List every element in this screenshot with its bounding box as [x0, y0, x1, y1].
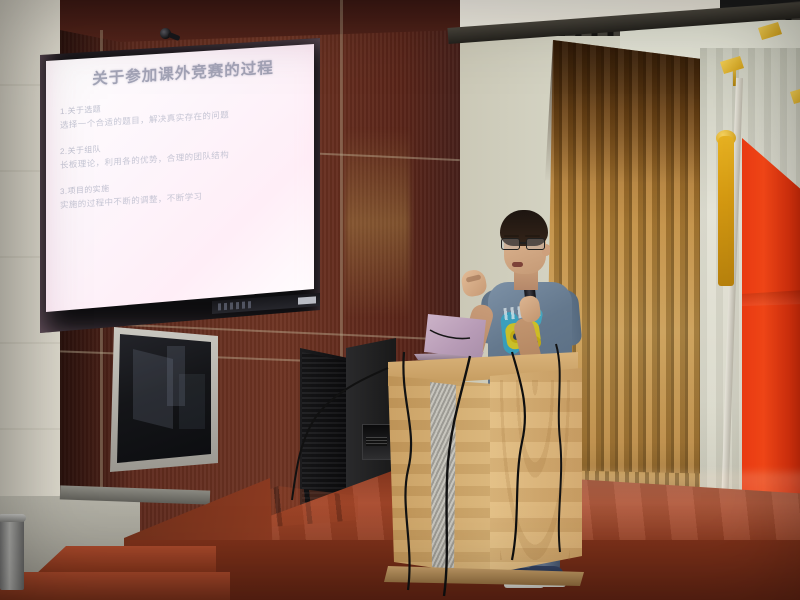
eyeglass-lens-left — [501, 238, 520, 250]
slide-title: 关于参加课外竞赛的过程 — [60, 54, 306, 91]
eyeglasses-icon — [501, 238, 549, 250]
podium-speaker-mesh — [430, 382, 456, 572]
hand-gesture — [460, 268, 488, 298]
dark-window-panel — [117, 334, 211, 463]
window-reflection — [179, 374, 205, 429]
slide-block-2: 2.关于组队 长板理论，利用各的优势，合理的团队结构 — [60, 131, 306, 171]
metal-trash-bin — [0, 518, 24, 590]
lecture-hall-photo: 关于参加课外竞赛的过程 1.关于选题 选择一个合适的题目，解决真实存在的问题 2… — [0, 0, 800, 600]
flag-pole-tassel — [718, 136, 734, 286]
stage-step-lower — [0, 572, 230, 600]
podium-wood-grain — [500, 380, 570, 560]
speaker-grille — [302, 352, 346, 512]
projection-screen[interactable]: 关于参加课外竞赛的过程 1.关于选题 选择一个合适的题目，解决真实存在的问题 2… — [46, 44, 314, 312]
camera-mount — [168, 32, 181, 41]
bezel-button[interactable] — [218, 303, 221, 310]
bezel-button[interactable] — [224, 303, 227, 310]
stage-step-upper — [36, 546, 216, 574]
bezel-button[interactable] — [248, 301, 251, 308]
trash-bin-lid — [0, 514, 26, 522]
bezel-label — [298, 296, 316, 304]
eyeglass-lens-right — [526, 238, 545, 250]
slide-content: 关于参加课外竞赛的过程 1.关于选题 选择一个合适的题目，解决真实存在的问题 2… — [46, 44, 314, 312]
slide-block-3: 3.项目的实施 实施的过程中不断的调整，不断学习 — [60, 171, 306, 211]
speaker-horn-slit — [366, 437, 387, 446]
slide-block-1: 1.关于选题 选择一个合适的题目，解决真实存在的问题 — [60, 91, 306, 131]
security-camera-icon — [160, 28, 180, 41]
bezel-button[interactable] — [242, 302, 245, 309]
bezel-button[interactable] — [230, 302, 233, 309]
laptop-lid[interactable] — [424, 314, 486, 358]
bezel-button[interactable] — [236, 302, 239, 309]
mouth — [512, 262, 523, 267]
